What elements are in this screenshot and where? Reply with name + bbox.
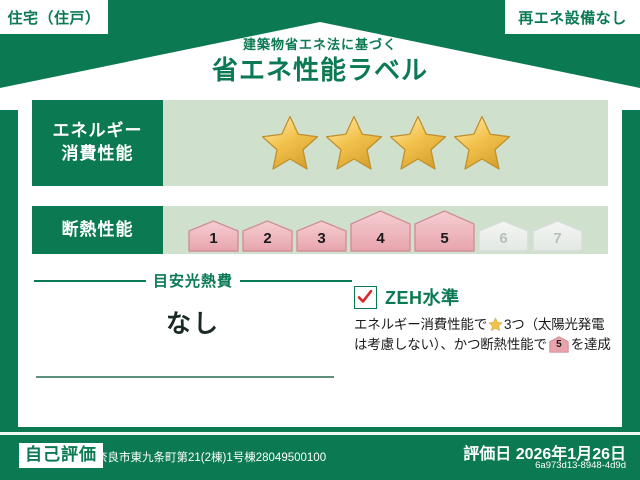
zeh-title: ZEH水準 <box>385 284 460 310</box>
insulation-level-1: 1 <box>188 220 239 252</box>
insulation-level-7: 7 <box>532 220 583 252</box>
utility-cost-heading-text: 目安光熱費 <box>153 270 233 291</box>
house-icon <box>296 220 347 252</box>
energy-performance-label-line1: エネルギー <box>53 120 143 143</box>
insulation-performance-label-text: 断熱性能 <box>62 219 134 242</box>
star-icon <box>259 113 321 173</box>
utility-cost-rule-right <box>240 280 352 282</box>
energy-performance-body <box>163 100 608 186</box>
house-icon <box>478 220 529 252</box>
badge-building-type-text: 住宅（住戸） <box>7 7 100 28</box>
zeh-desc-part2: 3つ（太陽光発電 <box>504 317 604 332</box>
house-icon <box>350 210 411 252</box>
zeh-section: ZEH水準 エネルギー消費性能で3つ（太陽光発電は考慮しない）、かつ断熱性能で5… <box>354 284 612 356</box>
star-icon <box>451 113 513 173</box>
insulation-level-scale: 1234567 <box>188 208 583 252</box>
property-address: 奈良市東九条町第21(2棟)1号棟28049500100 <box>96 449 326 465</box>
house-icon <box>188 220 239 252</box>
zeh-desc-part3: は考慮しない）、かつ断熱性能で <box>354 337 547 352</box>
star-icon <box>488 317 503 332</box>
insulation-level-6: 6 <box>478 220 529 252</box>
zeh-description: エネルギー消費性能で3つ（太陽光発電は考慮しない）、かつ断熱性能で5を達成 <box>354 315 612 356</box>
insulation-level-badge-number: 5 <box>549 337 569 352</box>
badge-renewable-energy-text: 再エネ設備なし <box>518 7 627 28</box>
utility-cost-rule-left <box>34 280 146 282</box>
insulation-performance-body: 1234567 <box>163 206 608 254</box>
zeh-checkbox[interactable] <box>354 286 377 309</box>
evaluation-id: 6a973d13-8948-4d9d <box>535 460 626 471</box>
self-evaluation-badge: 自己評価 <box>19 443 103 468</box>
star-icon <box>387 113 449 173</box>
zeh-heading: ZEH水準 <box>354 284 612 310</box>
insulation-level-3: 3 <box>296 220 347 252</box>
house-icon <box>414 210 475 252</box>
insulation-level-badge-icon: 5 <box>549 336 569 353</box>
utility-cost-underline <box>36 376 334 378</box>
energy-performance-row: エネルギー 消費性能 <box>32 100 608 186</box>
house-icon <box>532 220 583 252</box>
footer: 自己評価 奈良市東九条町第21(2棟)1号棟28049500100 評価日 20… <box>0 435 640 480</box>
insulation-performance-label: 断熱性能 <box>32 206 163 254</box>
insulation-level-4: 4 <box>350 210 411 252</box>
insulation-level-2: 2 <box>242 220 293 252</box>
zeh-desc-part4: を達成 <box>571 337 611 352</box>
insulation-performance-row: 断熱性能 1234567 <box>32 206 608 254</box>
energy-performance-label: 住宅（住戸） 再エネ設備なし 建築物省エネ法に基づく 省エネ性能ラベル エネルギ… <box>0 0 640 480</box>
utility-cost-value: なし <box>34 304 352 340</box>
house-icon <box>242 220 293 252</box>
badge-building-type: 住宅（住戸） <box>0 0 108 34</box>
insulation-level-5: 5 <box>414 210 475 252</box>
star-rating <box>259 113 513 173</box>
utility-cost-heading: 目安光熱費 <box>34 270 352 291</box>
badge-renewable-energy: 再エネ設備なし <box>505 0 640 34</box>
energy-performance-label: エネルギー 消費性能 <box>32 100 163 186</box>
label-card: エネルギー 消費性能 断熱性能 1234567 目安光熱費 なし <box>18 88 622 427</box>
check-icon <box>357 289 373 305</box>
zeh-desc-part1: エネルギー消費性能で <box>354 317 487 332</box>
energy-performance-label-line2: 消費性能 <box>62 143 134 166</box>
star-icon <box>323 113 385 173</box>
